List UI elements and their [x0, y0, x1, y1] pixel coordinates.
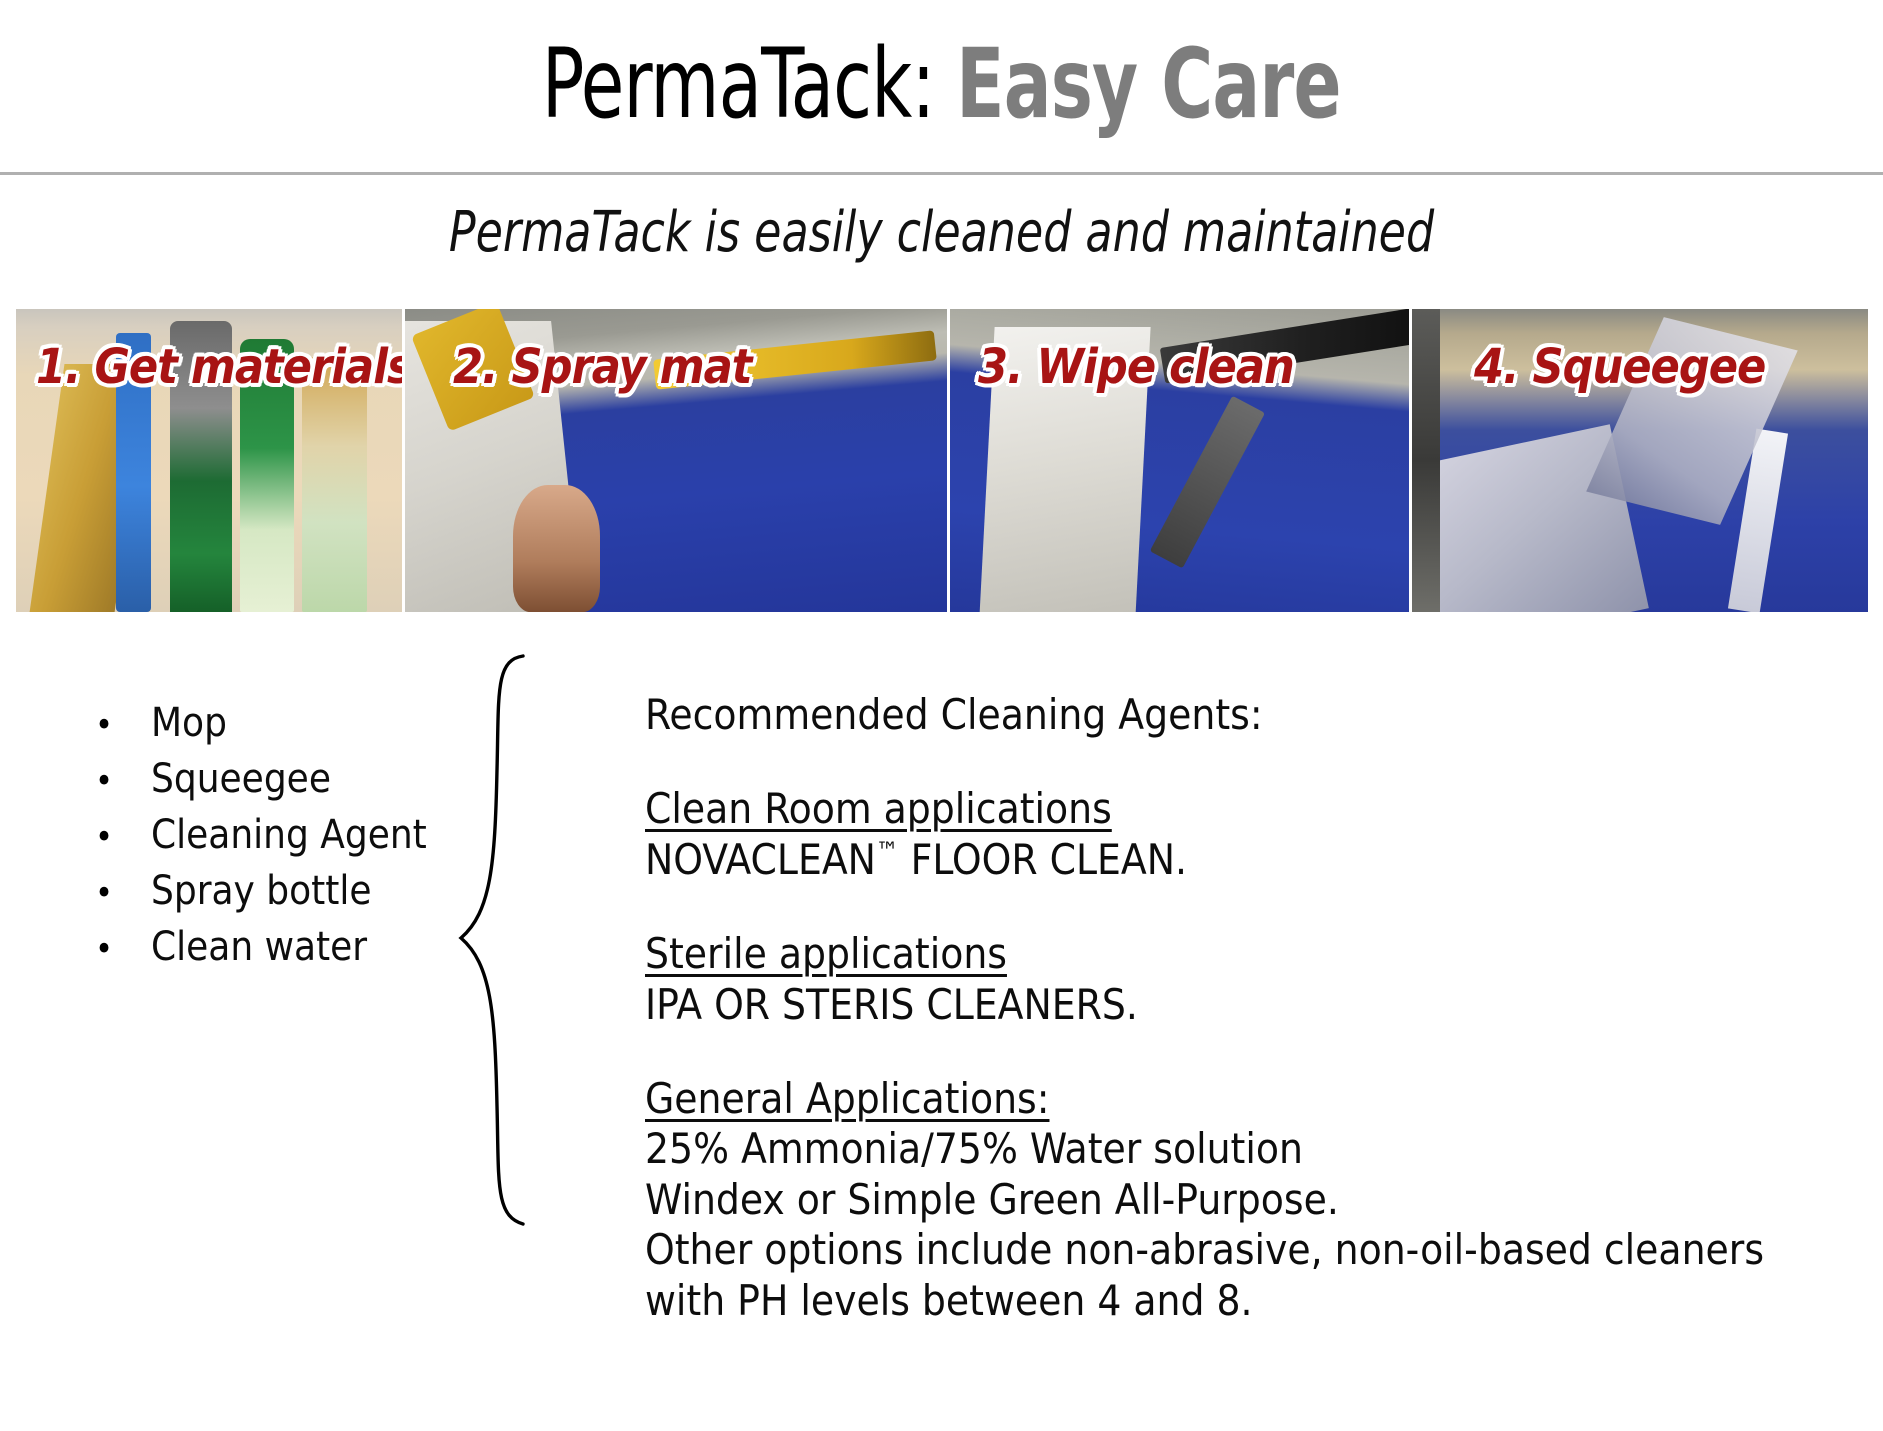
bullet-icon: • [95, 708, 151, 742]
bullet-icon: • [95, 876, 151, 910]
list-item: • Cleaning Agent [95, 812, 515, 868]
list-item: • Squeegee [95, 756, 515, 812]
list-item-label: Cleaning Agent [151, 812, 427, 858]
group-line-ipa-steris: IPA OR STERIS CLEANERS. [645, 980, 1845, 1030]
list-item-label: Spray bottle [151, 868, 371, 914]
photo-caption-4: 4. Squeegee [1474, 339, 1765, 395]
group-line-novaclean: NOVACLEAN™ FLOOR CLEAN. [645, 835, 1845, 885]
list-item-label: Mop [151, 700, 227, 746]
list-item-label: Clean water [151, 924, 367, 970]
page-title: PermaTack: Easy Care [0, 28, 1883, 140]
photo-caption-3: 3. Wipe clean [978, 339, 1294, 395]
photo-panel-wipe-clean: 3. Wipe clean [950, 309, 1409, 612]
title-divider-rule [0, 172, 1883, 175]
bullet-icon: • [95, 764, 151, 798]
second-bottle-shape [302, 357, 368, 612]
title-accent-text: Easy Care [956, 28, 1340, 140]
materials-list: • Mop • Squeegee • Cleaning Agent • Spra… [95, 700, 515, 980]
subtitle: PermaTack is easily cleaned and maintain… [113, 200, 1770, 265]
recommended-cleaning-agents-block: Recommended Cleaning Agents: Clean Room … [645, 690, 1845, 1326]
agents-group-sterile: Sterile applications IPA OR STERIS CLEAN… [645, 929, 1845, 1030]
group-line-windex: Windex or Simple Green All-Purpose. [645, 1175, 1845, 1225]
list-item: • Mop [95, 700, 515, 756]
photo-panel-get-materials: 1. Get materials [16, 309, 402, 612]
gloved-hand-shape [513, 485, 600, 612]
dark-edge-shape [1412, 309, 1440, 612]
list-item-label: Squeegee [151, 756, 331, 802]
group-line-ammonia: 25% Ammonia/75% Water solution [645, 1124, 1845, 1174]
agents-group-general: General Applications: 25% Ammonia/75% Wa… [645, 1074, 1845, 1326]
title-main-text: PermaTack: Easy Care [542, 28, 1341, 140]
list-item: • Spray bottle [95, 868, 515, 924]
group-line-other-options: Other options include non-abrasive, non-… [645, 1225, 1845, 1275]
agents-heading: Recommended Cleaning Agents: [645, 690, 1845, 740]
photo-caption-2: 2. Spray mat [453, 339, 751, 395]
photo-caption-1: 1. Get materials [36, 339, 402, 395]
photo-panel-squeegee: 4. Squeegee [1412, 309, 1868, 612]
list-item: • Clean water [95, 924, 515, 980]
trademark-symbol: ™ [876, 837, 899, 866]
bullet-icon: • [95, 932, 151, 966]
group-title-clean-room: Clean Room applications [645, 784, 1112, 834]
group-title-sterile: Sterile applications [645, 929, 1007, 979]
photo-panel-spray-mat: 2. Spray mat [405, 309, 947, 612]
bullet-icon: • [95, 820, 151, 854]
group-title-general: General Applications: [645, 1074, 1049, 1124]
mop-handle-shape [1150, 395, 1265, 567]
group-line-ph-levels: with PH levels between 4 and 8. [645, 1276, 1845, 1326]
agents-group-clean-room: Clean Room applications NOVACLEAN™ FLOOR… [645, 784, 1845, 885]
title-product-name: PermaTack: [542, 28, 956, 140]
photo-strip: 1. Get materials 2. Spray mat 3. Wipe cl… [16, 309, 1868, 612]
squeegee-blade-shape [1728, 429, 1788, 612]
